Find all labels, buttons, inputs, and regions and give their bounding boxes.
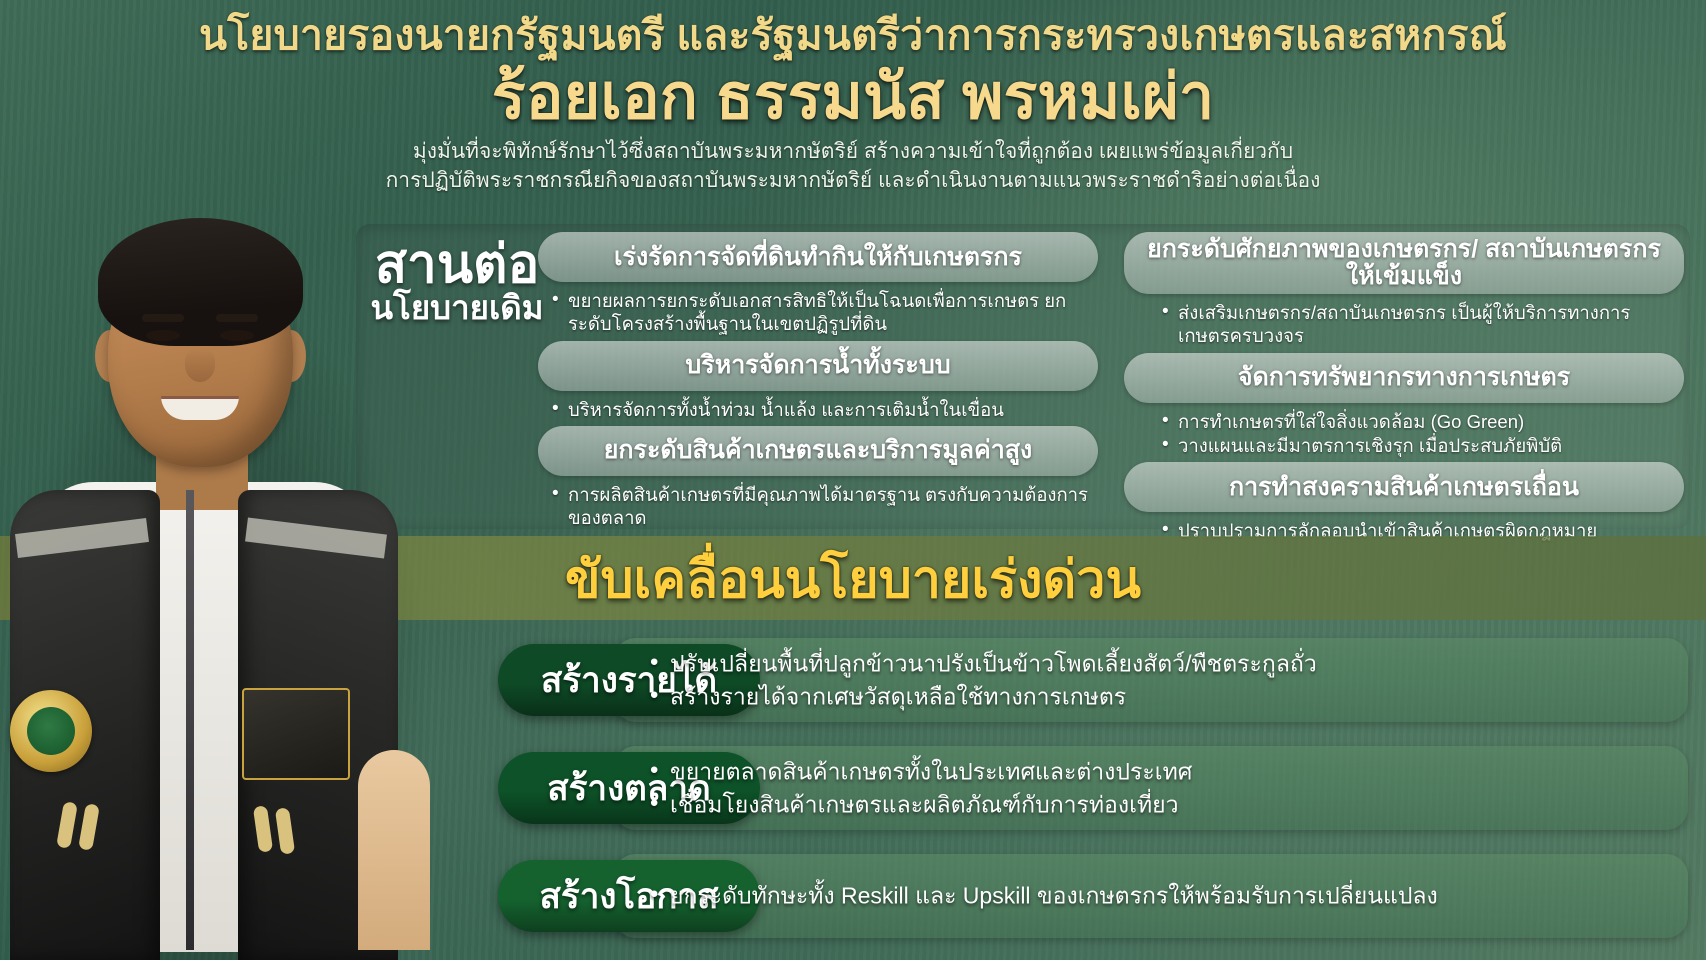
header-subtitle-line-1: มุ่งมั่นที่จะพิทักษ์รักษาไว้ซึ่งสถาบันพร…: [0, 138, 1706, 166]
portrait-eyebrow-left: [142, 314, 184, 322]
portrait-eye-left: [146, 330, 180, 341]
continuing-title-line-1: สานต่อ: [368, 238, 546, 292]
urgent-row-income: สร้างรายได้ ปรับเปลี่ยนพื้นที่ปลูกข้าวนา…: [498, 636, 1688, 724]
policy-column-left: เร่งรัดการจัดที่ดินทำกินให้กับเกษตรกร ขย…: [538, 232, 1098, 523]
policy-block-land: เร่งรัดการจัดที่ดินทำกินให้กับเกษตรกร ขย…: [538, 232, 1098, 337]
ministry-emblem-icon: [10, 690, 92, 772]
poster-header: นโยบายรองนายกรัฐมนตรี และรัฐมนตรีว่าการก…: [0, 12, 1706, 195]
policy-heading-land[interactable]: เร่งรัดการจัดที่ดินทำกินให้กับเกษตรกร: [538, 232, 1098, 282]
policy-bullets-highvalue: การผลิตสินค้าเกษตรที่มีคุณภาพได้มาตรฐาน …: [538, 483, 1098, 530]
list-item: เชื่อมโยงสินค้าเกษตรและผลิตภัณฑ์กับการท่…: [648, 788, 1670, 821]
urgent-row-opportunity: สร้างโอกาส ยกระดับทักษะทั้ง Reskill และ …: [498, 852, 1688, 940]
portrait-strap-2: [78, 803, 100, 851]
policy-block-resources: จัดการทรัพยากรทางการเกษตร การทำเกษตรที่ใ…: [1124, 353, 1684, 459]
urgent-policy-rows: สร้างรายได้ ปรับเปลี่ยนพื้นที่ปลูกข้าวนา…: [498, 636, 1688, 960]
urgent-row-market: สร้างตลาด ขยายตลาดสินค้าเกษตรทั้งในประเท…: [498, 744, 1688, 832]
portrait-strap-1: [56, 801, 78, 849]
policy-heading-highvalue[interactable]: ยกระดับสินค้าเกษตรและบริการมูลค่าสูง: [538, 426, 1098, 476]
portrait-vest-patch: [242, 688, 350, 780]
policy-bullets-land: ขยายผลการยกระดับเอกสารสิทธิให้เป็นโฉนดเพ…: [538, 289, 1098, 336]
list-item: ยกระดับทักษะทั้ง Reskill และ Upskill ของ…: [648, 880, 1670, 913]
continuing-policy-panel: สานต่อ นโยบายเดิม เร่งรัดการจัดที่ดินทำก…: [356, 224, 1690, 529]
continuing-title-line-2: นโยบายเดิม: [368, 290, 546, 326]
policy-bullets-capacity: ส่งเสริมเกษตรกร/สถาบันเกษตรกร เป็นผู้ให้…: [1124, 301, 1684, 348]
portrait-eye-right: [220, 330, 254, 341]
list-item: ขยายตลาดสินค้าเกษตรทั้งในประเทศและต่างปร…: [648, 755, 1670, 788]
portrait-mouth: [161, 396, 239, 420]
portrait-strap-4: [275, 807, 295, 855]
header-subtitle-line-2: การปฏิบัติพระราชกรณียกิจของสถาบันพระมหาก…: [0, 167, 1706, 195]
policy-heading-water[interactable]: บริหารจัดการน้ำทั้งระบบ: [538, 341, 1098, 391]
policy-block-water: บริหารจัดการน้ำทั้งระบบ บริหารจัดการทั้ง…: [538, 341, 1098, 422]
policy-block-smuggling: การทำสงครามสินค้าเกษตรเถื่อน ปราบปรามการ…: [1124, 462, 1684, 543]
infographic-poster: นโยบายรองนายกรัฐมนตรี และรัฐมนตรีว่าการก…: [0, 0, 1706, 960]
list-item: บริหารจัดการทั้งน้ำท่วม น้ำแล้ง และการเต…: [552, 398, 1092, 421]
policy-heading-resources[interactable]: จัดการทรัพยากรทางการเกษตร: [1124, 353, 1684, 403]
list-item: ส่งเสริมเกษตรกร/สถาบันเกษตรกร เป็นผู้ให้…: [1162, 301, 1678, 348]
policy-heading-capacity[interactable]: ยกระดับศักยภาพของเกษตรกร/ สถาบันเกษตรกรใ…: [1124, 232, 1684, 294]
urgent-bullets-market: ขยายตลาดสินค้าเกษตรทั้งในประเทศและต่างปร…: [648, 755, 1670, 820]
list-item: วางแผนและมีมาตรการเชิงรุก เมื่อประสบภัยพ…: [1162, 434, 1678, 457]
portrait-neck: [156, 440, 248, 510]
policy-bullets-water: บริหารจัดการทั้งน้ำท่วม น้ำแล้ง และการเต…: [538, 398, 1098, 421]
policy-column-right: ยกระดับศักยภาพของเกษตรกร/ สถาบันเกษตรกรใ…: [1124, 232, 1684, 523]
portrait-head: [108, 242, 293, 467]
urgent-policy-banner: ขับเคลื่อนนโยบายเร่งด่วน: [0, 536, 1706, 620]
header-subtitle: มุ่งมั่นที่จะพิทักษ์รักษาไว้ซึ่งสถาบันพร…: [0, 138, 1706, 195]
header-line-2-name: ร้อยเอก ธรรมนัส พรหมเผ่า: [0, 63, 1706, 132]
portrait-ear-left: [95, 330, 125, 382]
header-line-1: นโยบายรองนายกรัฐมนตรี และรัฐมนตรีว่าการก…: [0, 12, 1706, 59]
portrait-nose: [185, 348, 215, 382]
list-item: ขยายผลการยกระดับเอกสารสิทธิให้เป็นโฉนดเพ…: [552, 289, 1092, 336]
list-item: ปรับเปลี่ยนพื้นที่ปลูกข้าวนาปรังเป็นข้าว…: [648, 647, 1670, 680]
urgent-bullets-income: ปรับเปลี่ยนพื้นที่ปลูกข้าวนาปรังเป็นข้าว…: [648, 647, 1670, 712]
policy-columns: เร่งรัดการจัดที่ดินทำกินให้กับเกษตรกร ขย…: [538, 232, 1684, 523]
list-item: สร้างรายได้จากเศษวัสดุเหลือใช้ทางการเกษต…: [648, 680, 1670, 713]
urgent-banner-title: ขับเคลื่อนนโยบายเร่งด่วน: [565, 537, 1141, 620]
portrait-hair: [98, 218, 303, 346]
policy-heading-smuggling[interactable]: การทำสงครามสินค้าเกษตรเถื่อน: [1124, 462, 1684, 512]
portrait-ear-right: [276, 330, 306, 382]
policy-bullets-resources: การทำเกษตรที่ใส่ใจสิ่งแวดล้อม (Go Green)…: [1124, 410, 1684, 458]
policy-block-capacity: ยกระดับศักยภาพของเกษตรกร/ สถาบันเกษตรกรใ…: [1124, 232, 1684, 349]
portrait-arm-right: [358, 750, 430, 950]
policy-block-highvalue: ยกระดับสินค้าเกษตรและบริการมูลค่าสูง การ…: [538, 426, 1098, 531]
portrait-strap-3: [253, 805, 273, 853]
continuing-policy-title: สานต่อ นโยบายเดิม: [368, 238, 546, 326]
portrait-eyebrow-right: [216, 314, 258, 322]
list-item: การทำเกษตรที่ใส่ใจสิ่งแวดล้อม (Go Green): [1162, 410, 1678, 433]
list-item: การผลิตสินค้าเกษตรที่มีคุณภาพได้มาตรฐาน …: [552, 483, 1092, 530]
urgent-bullets-opportunity: ยกระดับทักษะทั้ง Reskill และ Upskill ของ…: [648, 880, 1670, 913]
